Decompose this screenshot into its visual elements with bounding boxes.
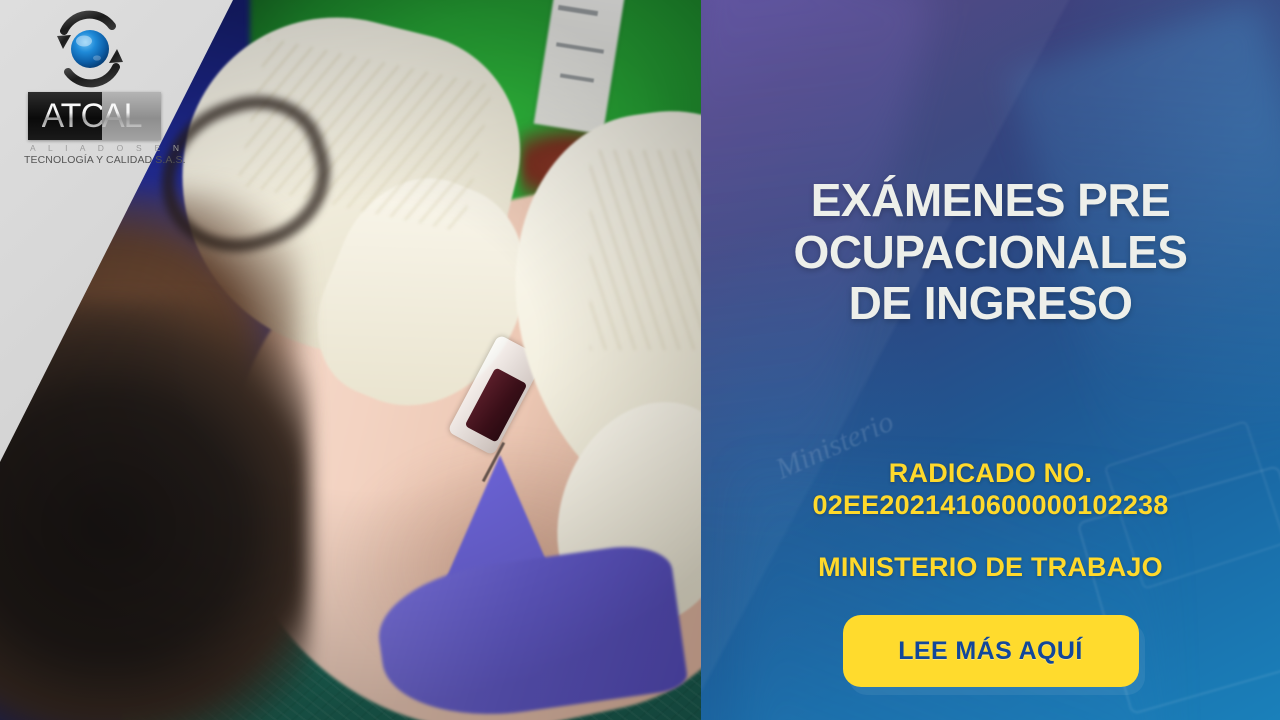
- entity-name: MINISTERIO DE TRABAJO: [701, 552, 1280, 583]
- info-panel: Ministerio EXÁMENES PRE OCUPACIONALES DE…: [701, 0, 1280, 720]
- wordmark-dark-box: ATC: [28, 92, 102, 140]
- logo-tagline-top: A L I A D O S E N: [30, 143, 187, 153]
- cycle-arrows-sphere-icon: [44, 10, 136, 88]
- radicado-number: 02EE2021410600000102238: [701, 490, 1280, 522]
- atcal-wordmark: ATC AL: [28, 92, 161, 140]
- cta-container: LEE MÁS AQUÍ: [701, 615, 1280, 687]
- read-more-button[interactable]: LEE MÁS AQUÍ: [843, 615, 1139, 687]
- radicado-label: RADICADO NO.: [701, 458, 1280, 490]
- headline-line-2: OCUPACIONALES: [701, 227, 1280, 279]
- page-title: EXÁMENES PRE OCUPACIONALES DE INGRESO: [701, 175, 1280, 330]
- banner-root: ATC AL A L I A D O S E N TECNOLOGÍA Y CA…: [0, 0, 1280, 720]
- headline-line-3: DE INGRESO: [701, 278, 1280, 330]
- wordmark-light-box: AL: [102, 92, 161, 140]
- wordmark-right-text: AL: [102, 99, 142, 133]
- wordmark-left-text: ATC: [42, 99, 104, 133]
- logo-tagline-bottom: TECNOLOGÍA Y CALIDAD S.A.S.: [24, 154, 187, 166]
- headline-line-1: EXÁMENES PRE: [701, 175, 1280, 227]
- atcal-logo[interactable]: ATC AL A L I A D O S E N TECNOLOGÍA Y CA…: [22, 10, 187, 166]
- radicado-block: RADICADO NO. 02EE2021410600000102238: [701, 458, 1280, 522]
